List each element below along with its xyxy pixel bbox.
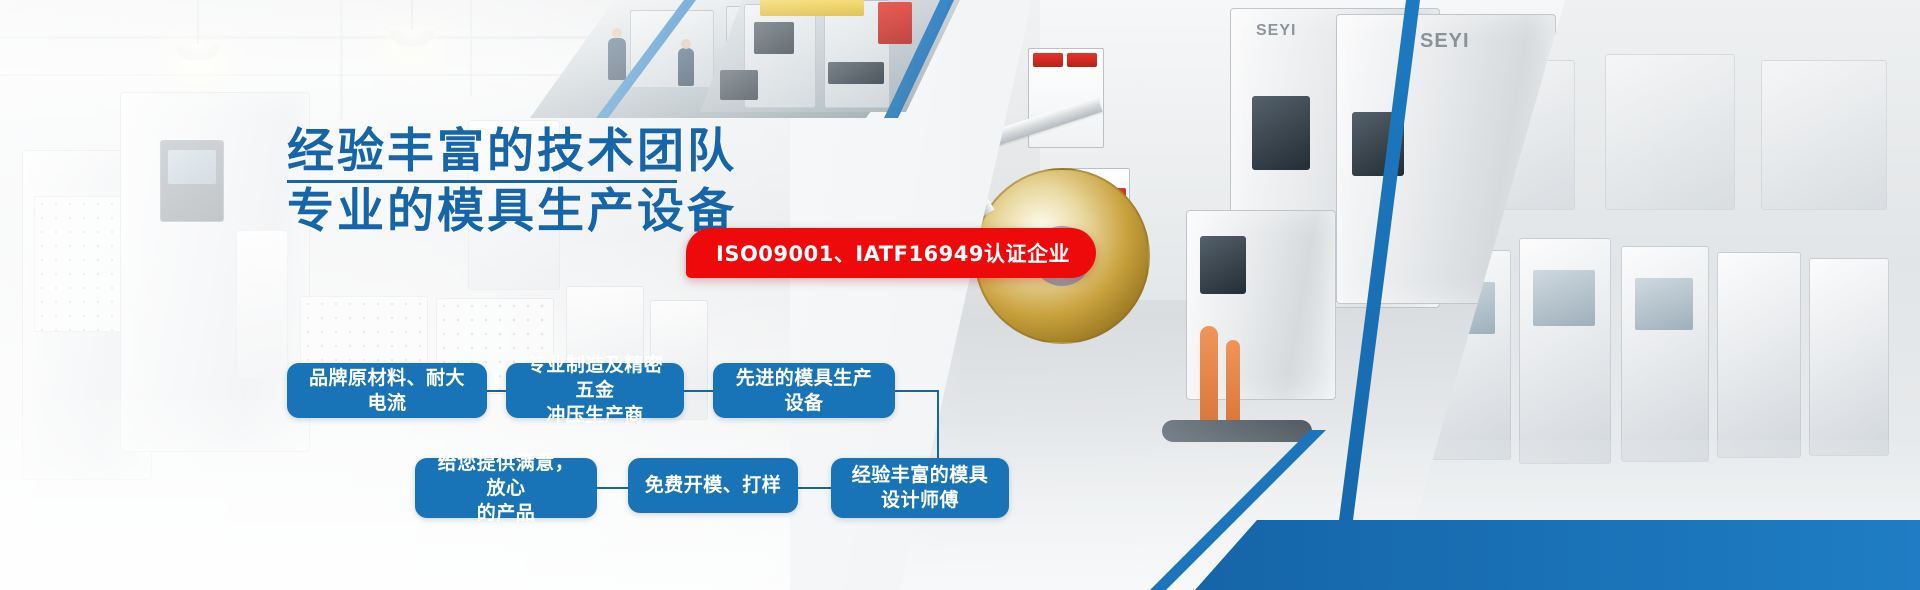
workshop-machine: [1717, 252, 1801, 458]
feature-pill-1[interactable]: 品牌原材料、耐大电流: [287, 363, 487, 418]
flow-connector: [798, 487, 831, 489]
workshop-machine: [1761, 60, 1887, 210]
feature-pill-3[interactable]: 先进的模具生产设备: [713, 363, 895, 418]
feature-pill-6[interactable]: 经验丰富的模具设计师傅: [831, 458, 1009, 518]
workshop-machine: [1605, 54, 1735, 210]
coil-hose: [1200, 326, 1218, 434]
flow-connector: [684, 390, 713, 392]
press-control-box: [1252, 96, 1310, 170]
feature-pill-4[interactable]: 给您提供满意，放心的产品: [415, 458, 597, 518]
feature-pill-2[interactable]: 专业制造及精密五金冲压生产商: [506, 363, 684, 418]
press-brand-label: SEYI: [1256, 22, 1296, 40]
feature-flow-diagram: 品牌原材料、耐大电流 专业制造及精密五金冲压生产商 先进的模具生产设备 给您提供…: [0, 0, 1200, 590]
feeder-control-box: [1200, 236, 1246, 294]
factory-hero-banner: SEYI SEYI 经验丰富: [0, 0, 1920, 590]
machine-window: [1635, 278, 1693, 330]
workshop-machine: [1809, 258, 1889, 456]
bottom-blue-band: [1195, 520, 1920, 590]
flow-connector: [487, 390, 506, 392]
coil-hose: [1226, 340, 1240, 430]
press-brand-label: SEYI: [1420, 30, 1470, 53]
flow-connector: [895, 390, 939, 392]
feature-pill-5[interactable]: 免费开模、打样: [628, 458, 798, 513]
machine-window: [1533, 270, 1595, 326]
flow-connector: [597, 487, 628, 489]
